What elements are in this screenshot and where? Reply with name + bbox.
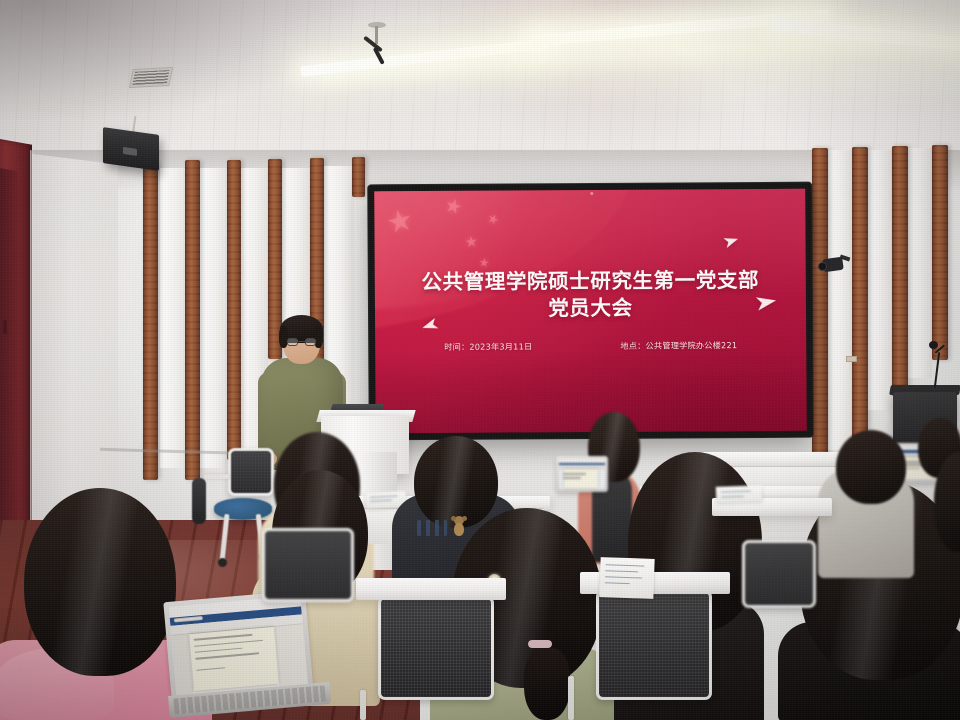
- wood-slat: [852, 147, 868, 447]
- chair-arm-bracket: [204, 474, 230, 479]
- laptop-lid[interactable]: [556, 456, 608, 492]
- glasses-icon: [287, 338, 316, 346]
- door-edge-highlight: [30, 150, 34, 551]
- wood-slat: [892, 146, 908, 396]
- door-panel[interactable]: [0, 168, 18, 551]
- ceiling-shadow-left: [0, 0, 360, 120]
- chair-armrest: [192, 478, 206, 524]
- chair-leg: [568, 676, 574, 720]
- wall-stripe: [160, 168, 188, 468]
- hair-tie: [528, 640, 552, 648]
- presentation-slide[interactable]: ★ ★ ★ ★ ★ ➤ ➤ ➤ 公共管理学院硕士研究生第一党支部 党员大会 时间…: [374, 189, 806, 434]
- wood-slat: [352, 157, 365, 197]
- wall-plate: [846, 356, 857, 362]
- ceiling-air-vent: [129, 67, 173, 88]
- led-display-bezel: ★ ★ ★ ★ ★ ➤ ➤ ➤ 公共管理学院硕士研究生第一党支部 党员大会 时间…: [368, 183, 813, 440]
- ceiling-mount-rod: [375, 26, 378, 44]
- screen-bottom-shading: [375, 348, 806, 433]
- chair-back[interactable]: [742, 540, 816, 608]
- wood-slat: [227, 160, 241, 460]
- screen-pixel-dot: [590, 192, 593, 195]
- laptop-screen[interactable]: [169, 595, 308, 696]
- empty-chair-seat[interactable]: [214, 498, 272, 520]
- chair-caster: [218, 558, 227, 567]
- wood-slat: [932, 145, 948, 360]
- paper-sheet: [716, 485, 763, 503]
- camera-lens-icon: [818, 262, 827, 271]
- jacket-bear-patch: [451, 516, 467, 536]
- door-handle[interactable]: [3, 320, 7, 334]
- desk-row-near: [356, 578, 506, 600]
- jacket-lettering: [417, 520, 447, 536]
- wood-slat: [812, 148, 828, 468]
- wall-speaker: [103, 127, 159, 171]
- laptop-screen[interactable]: [559, 459, 605, 489]
- gooseneck-microphone: [929, 341, 938, 349]
- slide-title: 公共管理学院硕士研究生第一党支部 党员大会: [375, 267, 806, 324]
- chair-back[interactable]: [596, 590, 712, 700]
- wood-slat: [185, 160, 200, 480]
- wall-stripe: [826, 150, 852, 450]
- flag-star-icon: ★: [464, 234, 479, 250]
- wall-stripe: [866, 150, 892, 410]
- wall-stripe: [200, 168, 228, 468]
- wood-slat: [143, 162, 158, 480]
- chair-back[interactable]: [378, 596, 494, 700]
- chair-leg: [360, 690, 366, 720]
- slide-title-line-2: 党员大会: [375, 294, 806, 324]
- classroom-photo-scene: ★ ★ ★ ★ ★ ➤ ➤ ➤ 公共管理学院硕士研究生第一党支部 党员大会 时间…: [0, 0, 960, 720]
- empty-chair-back[interactable]: [228, 448, 274, 496]
- flag-star-icon: ★: [478, 256, 490, 269]
- chair-back[interactable]: [262, 528, 354, 602]
- paper-sheet: [599, 557, 654, 599]
- ponytail: [524, 648, 570, 720]
- slide-title-line-1: 公共管理学院硕士研究生第一党支部: [375, 267, 806, 297]
